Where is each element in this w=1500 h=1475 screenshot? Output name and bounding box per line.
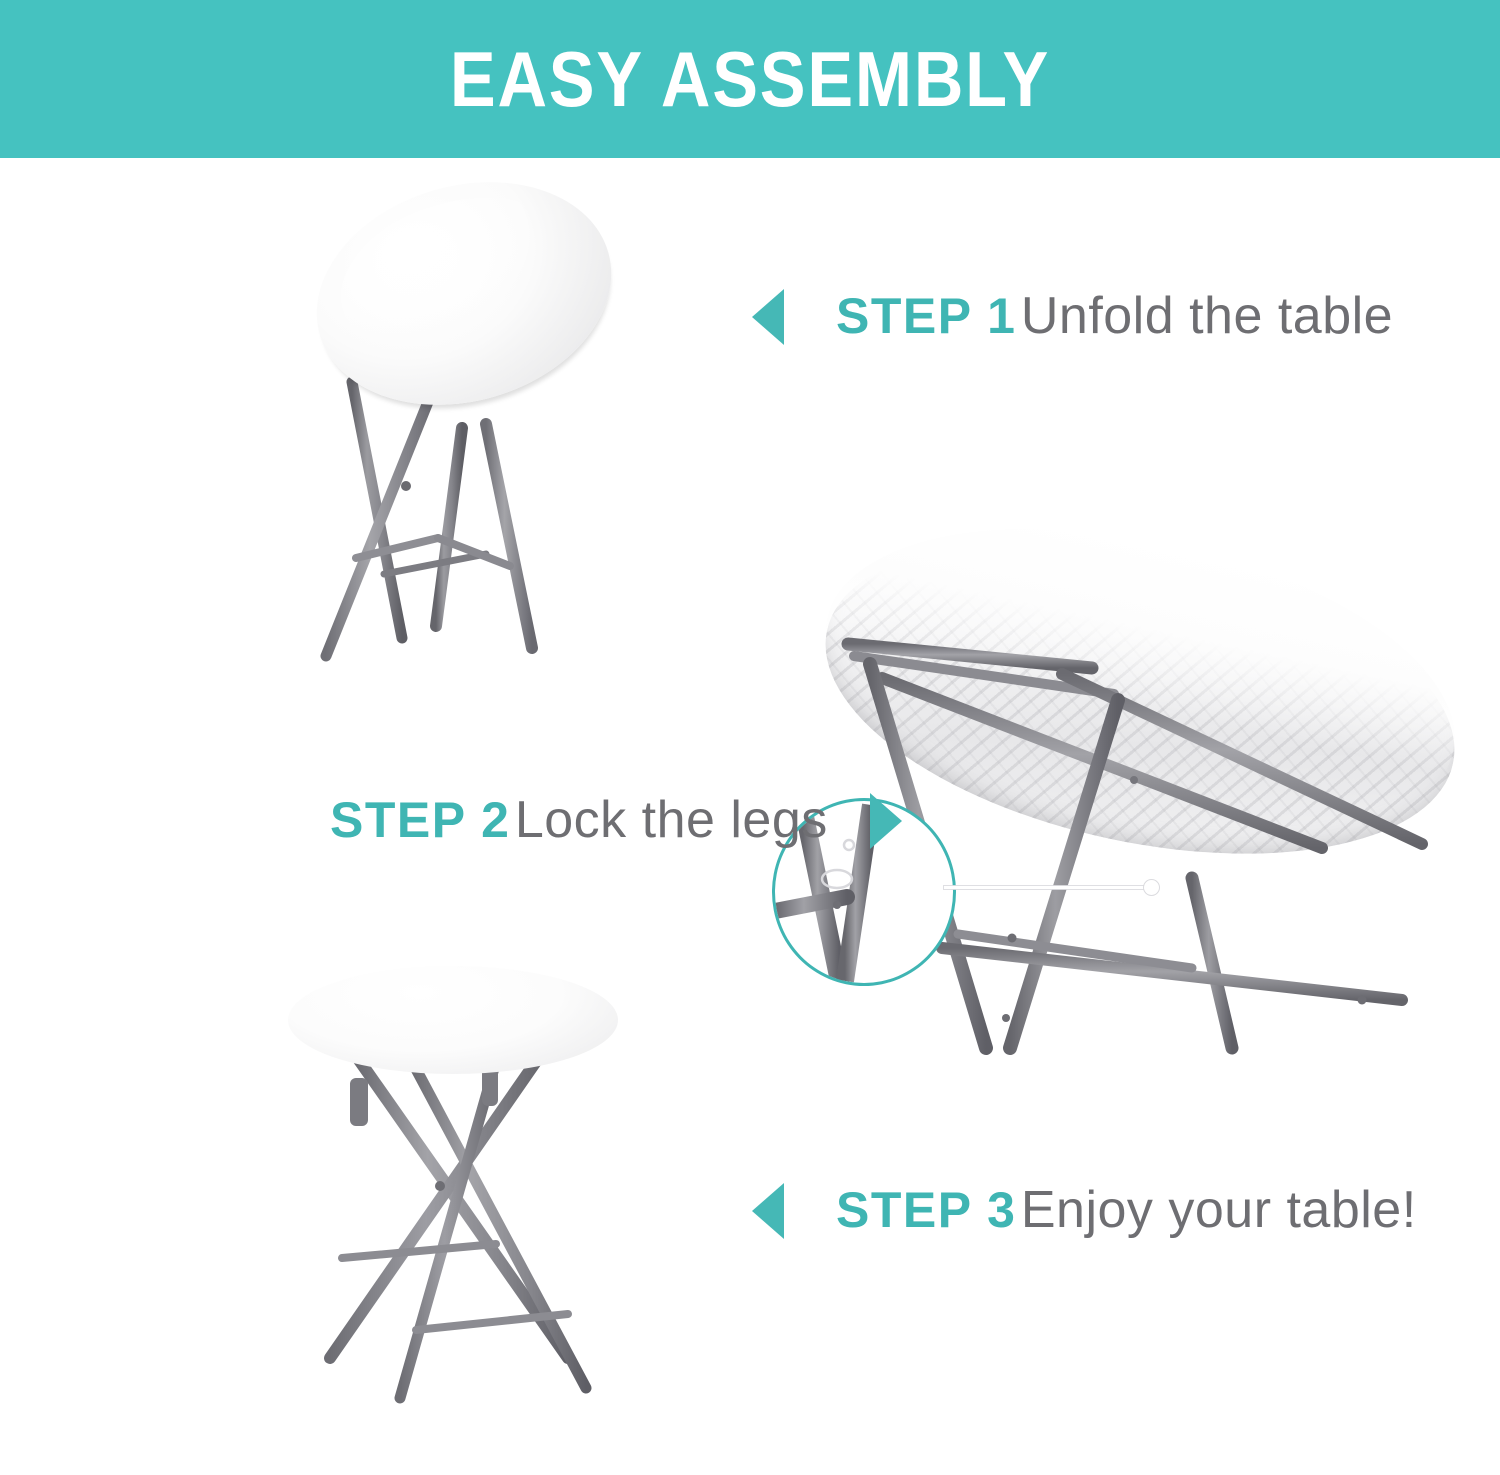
triangle-left-icon [752,1183,784,1239]
step-1-caption: Unfold the table [1021,287,1393,345]
step-2-caption: Lock the legs [515,791,828,849]
step-2-heading: STEP 2 [330,792,510,848]
tabletop-surface [288,966,618,1074]
step-3-caption: Enjoy your table! [1021,1181,1417,1239]
illustration-step-3-assembled [268,958,668,1418]
step-3-block: STEP 3 Enjoy your table! [752,1178,1417,1243]
header-banner: EASY ASSEMBLY [0,0,1500,158]
step-2-text: STEP 2 Lock the legs [330,788,828,853]
page-title: EASY ASSEMBLY [450,40,1050,118]
callout-leader-line [944,886,1152,889]
triangle-right-icon [870,793,902,849]
callout-leader-dot [1144,880,1159,895]
step-1-text: STEP 1 Unfold the table [836,284,1393,349]
step-3-heading: STEP 3 [836,1182,1016,1238]
step-1-block: STEP 1 Unfold the table [752,284,1393,349]
step-3-text: STEP 3 Enjoy your table! [836,1178,1417,1243]
illustration-step-1-unfold [286,186,646,666]
step-2-block: STEP 2 Lock the legs [330,788,902,853]
easy-assembly-infographic: EASY ASSEMBLY [0,0,1500,1475]
triangle-left-icon [752,289,784,345]
step-1-heading: STEP 1 [836,288,1016,344]
